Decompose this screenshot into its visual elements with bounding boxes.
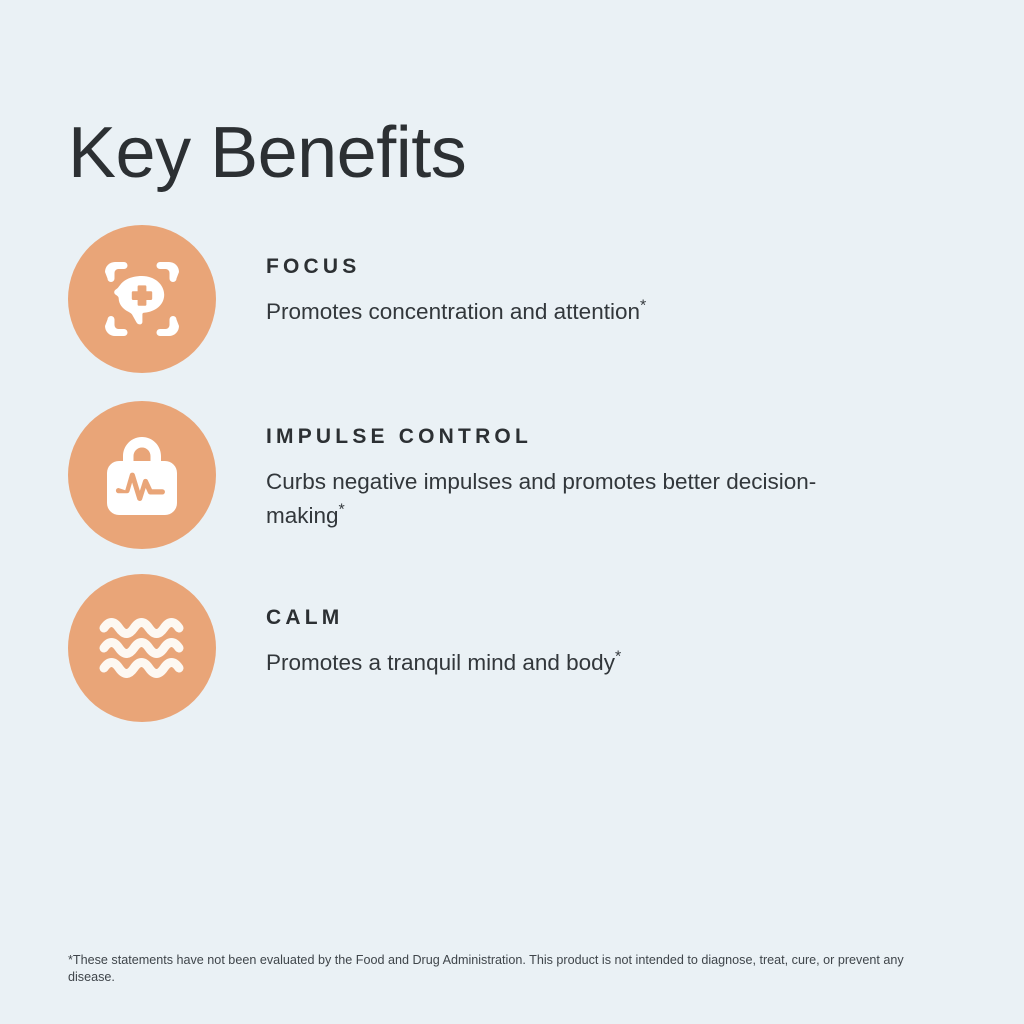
benefit-heading: IMPULSE CONTROL [266,425,886,449]
fda-disclaimer: *These statements have not been evaluate… [68,952,948,986]
benefits-list: FOCUS Promotes concentration and attenti… [68,225,968,722]
footnote-marker: * [640,298,646,315]
benefit-description: Promotes concentration and attention* [266,295,886,329]
benefit-icon-badge [68,225,216,373]
benefit-text-block: IMPULSE CONTROL Curbs negative impulses … [216,401,886,533]
benefit-description-text: Promotes a tranquil mind and body [266,650,615,675]
waves-icon [99,614,185,682]
page-title: Key Benefits [68,110,466,196]
footnote-marker: * [339,502,345,519]
benefit-description: Promotes a tranquil mind and body* [266,646,886,680]
benefit-heading: CALM [266,606,886,630]
benefit-description-text: Promotes concentration and attention [266,299,640,324]
key-benefits-panel: Key Benefits [0,0,1024,1024]
brain-focus-icon [103,260,181,338]
benefit-description: Curbs negative impulses and promotes bet… [266,465,886,533]
benefit-heading: FOCUS [266,255,886,279]
benefit-text-block: CALM Promotes a tranquil mind and body* [216,574,886,680]
benefit-item-calm: CALM Promotes a tranquil mind and body* [68,574,968,722]
padlock-pulse-icon [105,435,179,515]
benefit-text-block: FOCUS Promotes concentration and attenti… [216,225,886,329]
benefit-icon-badge [68,574,216,722]
benefit-item-focus: FOCUS Promotes concentration and attenti… [68,225,968,373]
benefit-icon-badge [68,401,216,549]
benefit-item-impulse-control: IMPULSE CONTROL Curbs negative impulses … [68,401,968,549]
benefit-description-text: Curbs negative impulses and promotes bet… [266,469,816,528]
footnote-marker: * [615,649,621,666]
